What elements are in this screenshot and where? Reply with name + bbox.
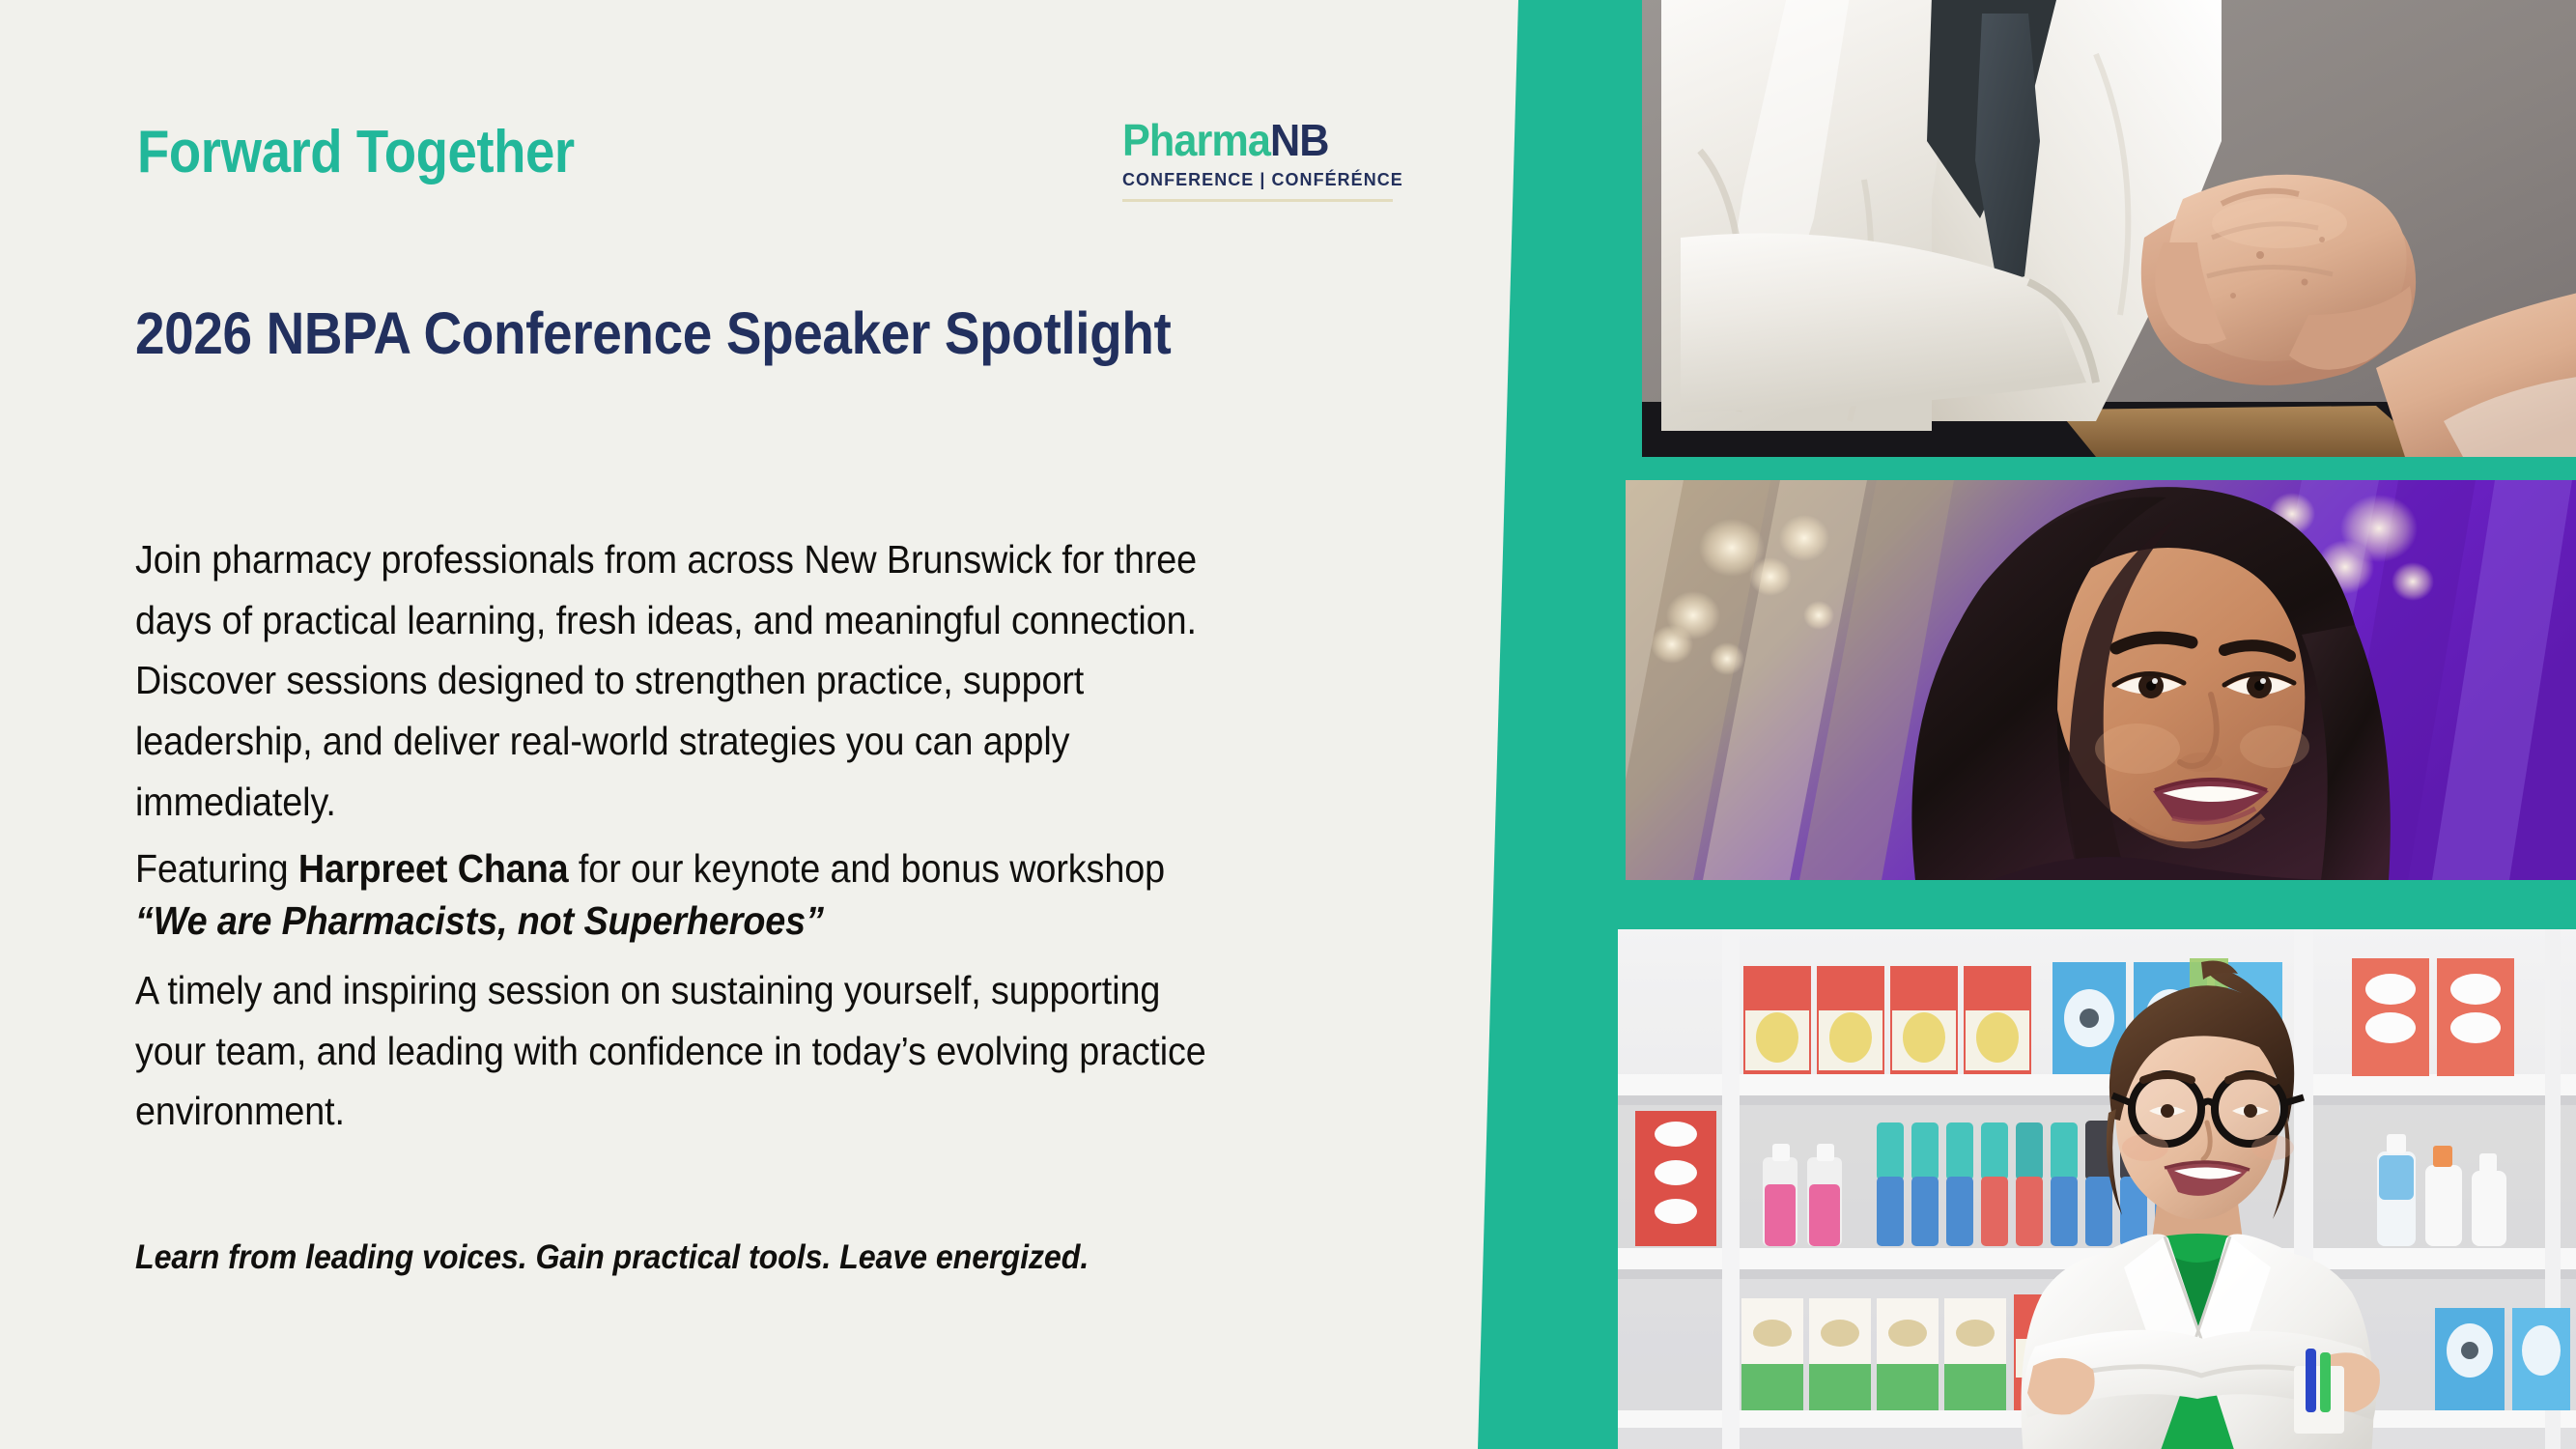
speaker-name: Harpreet Chana — [298, 846, 569, 891]
tagline: Forward Together — [137, 118, 575, 186]
logo-wordmark: PharmaNB — [1122, 118, 1395, 162]
logo-word-nb: NB — [1270, 115, 1329, 165]
closing-tagline: Learn from leading voices. Gain practica… — [135, 1232, 1089, 1284]
slide-canvas: Forward Together PharmaNB CONFERENCE | C… — [0, 0, 2576, 1449]
logo-subtitle: CONFERENCE | CONFÉRÉNCE — [1122, 169, 1403, 190]
intro-paragraph: Join pharmacy professionals from across … — [135, 529, 1197, 833]
photo-2-artwork — [1626, 480, 2576, 880]
session-line-3: environment. — [135, 1081, 1206, 1142]
logo-word-pharma: Pharma — [1122, 115, 1270, 165]
page-title-line-1: 2026 NBPA Conference — [135, 300, 712, 366]
intro-line-5: immediately. — [135, 772, 1197, 833]
intro-line-1: Join pharmacy professionals from across … — [135, 529, 1197, 590]
page-title: 2026 NBPA Conference Speaker Spotlight — [135, 298, 1171, 371]
pharmanb-logo: PharmaNB CONFERENCE | CONFÉRÉNCE — [1122, 118, 1412, 202]
intro-line-4: leadership, and deliver real-world strat… — [135, 711, 1197, 772]
session-line-2: your team, and leading with confidence i… — [135, 1021, 1206, 1082]
intro-line-3: Discover sessions designed to strengthen… — [135, 650, 1197, 711]
photo-pharmacist-in-pharmacy-aisle — [1618, 929, 2576, 1449]
photo-1-artwork — [1642, 0, 2576, 457]
page-title-line-2: Speaker Spotlight — [726, 300, 1172, 366]
featuring-prefix: Featuring — [135, 846, 298, 891]
photo-pharmacist-holding-patient-hands — [1642, 0, 2576, 457]
workshop-title-quote: “We are Pharmacists, not Superheroes” — [135, 891, 824, 952]
session-description: A timely and inspiring session on sustai… — [135, 960, 1206, 1142]
featuring-suffix: for our keynote and bonus workshop — [569, 846, 1165, 891]
photo-keynote-speaker-portrait — [1626, 480, 2576, 880]
logo-underline-rule — [1122, 199, 1393, 202]
left-content-column: Forward Together PharmaNB CONFERENCE | C… — [0, 0, 1468, 1449]
photo-3-artwork — [1618, 929, 2576, 1449]
session-line-1: A timely and inspiring session on sustai… — [135, 960, 1206, 1021]
intro-line-2: days of practical learning, fresh ideas,… — [135, 590, 1197, 651]
